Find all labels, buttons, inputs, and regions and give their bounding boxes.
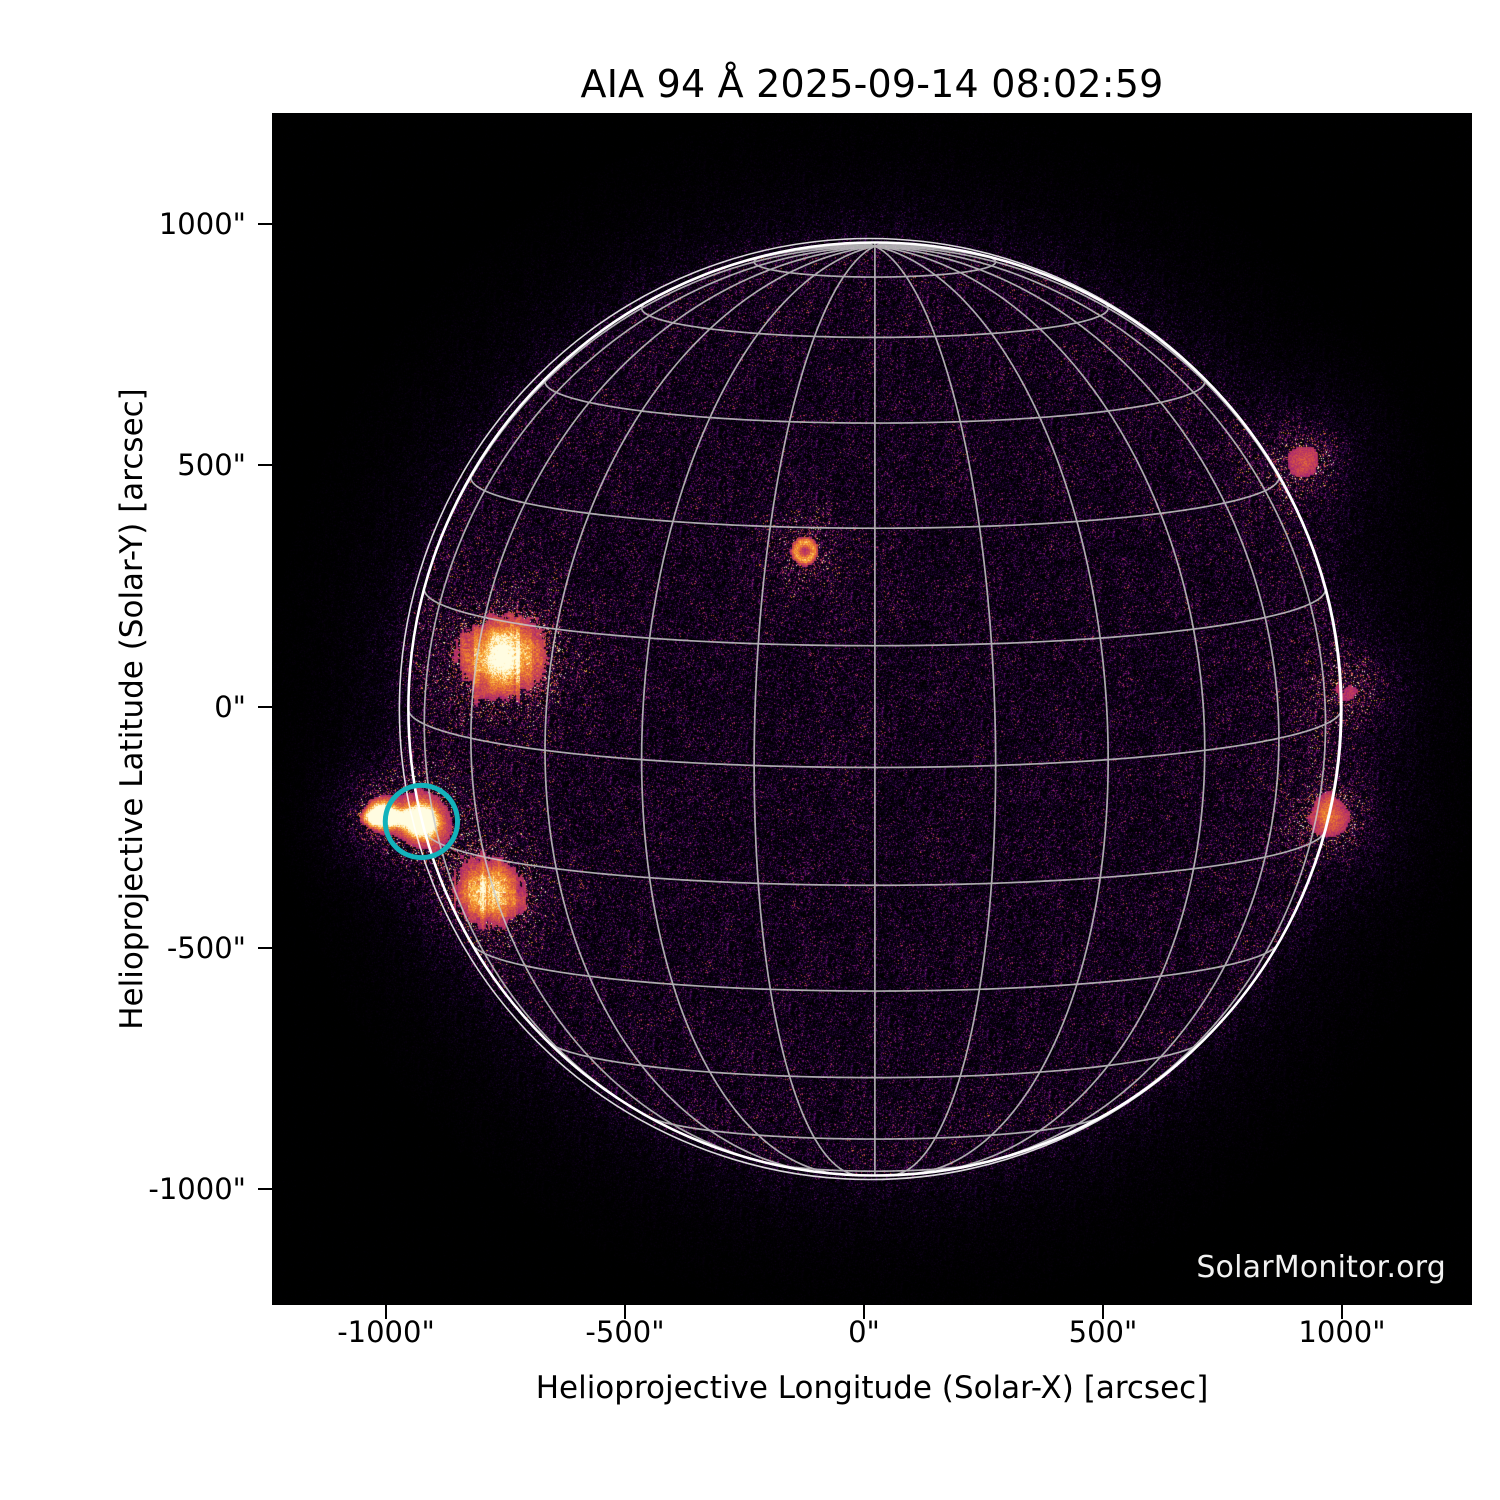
heliographic-grid-overlay xyxy=(272,113,1472,1305)
y-tick-label-500: 500" xyxy=(177,448,246,482)
solarmonitor-watermark: SolarMonitor.org xyxy=(1196,1250,1446,1285)
y-axis-title: Helioprojective Latitude (Solar-Y) [arcs… xyxy=(104,113,160,1305)
grid-meridian xyxy=(875,246,996,1175)
grid-meridian xyxy=(545,246,875,1171)
page-title: AIA 94 Å 2025-09-14 08:02:59 xyxy=(272,62,1472,106)
x-tick-label-neg1000: -1000" xyxy=(337,1315,435,1349)
x-tick-label-0: 0" xyxy=(848,1315,880,1349)
solar-limb-outer xyxy=(399,238,1340,1179)
y-tick-label-neg1000: -1000" xyxy=(148,1172,246,1206)
y-tick-mark xyxy=(258,1188,272,1190)
y-tick-mark xyxy=(258,706,272,708)
x-tick-label-neg500: -500" xyxy=(585,1315,664,1349)
heliographic-grid-lines xyxy=(408,243,1341,1176)
y-tick-mark xyxy=(258,947,272,949)
solar-image-plot-area[interactable]: SolarMonitor.org xyxy=(272,113,1472,1305)
grid-meridian xyxy=(408,246,875,709)
x-tick-label-1000: 1000" xyxy=(1298,1315,1385,1349)
grid-meridian xyxy=(875,246,1342,709)
solar-limb-circle xyxy=(399,238,1341,1179)
grid-meridian xyxy=(875,246,1108,1174)
solar-image-figure: AIA 94 Å 2025-09-14 08:02:59 1000" 500" … xyxy=(0,0,1500,1500)
y-tick-mark xyxy=(258,464,272,466)
x-axis-title: Helioprojective Longitude (Solar-X) [arc… xyxy=(272,1370,1472,1406)
grid-meridian xyxy=(424,246,875,1128)
grid-meridian xyxy=(875,246,1205,1171)
grid-meridian xyxy=(875,246,1326,1128)
x-tick-label-500: 500" xyxy=(1069,1315,1138,1349)
y-tick-mark xyxy=(258,223,272,225)
grid-meridian xyxy=(754,246,875,1175)
y-tick-label-neg500: -500" xyxy=(167,931,246,965)
y-tick-label-0: 0" xyxy=(214,690,246,724)
grid-meridian xyxy=(642,246,875,1174)
y-tick-label-1000: 1000" xyxy=(159,207,246,241)
